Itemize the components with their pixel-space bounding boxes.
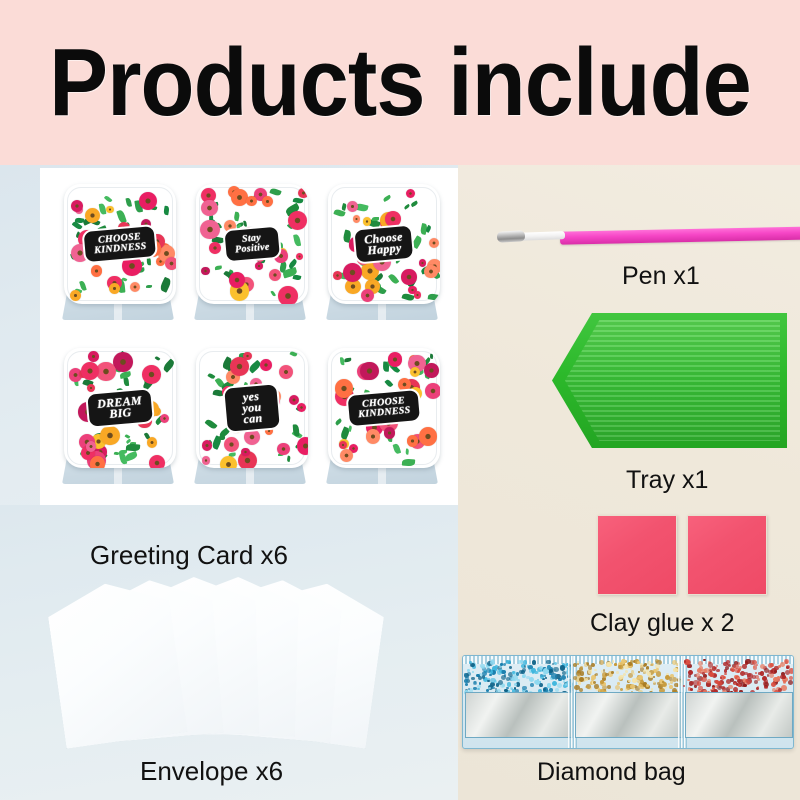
- greeting-card-item: Choose Happy: [320, 182, 448, 330]
- card-slogan: CHOOSE KINDNESS: [345, 388, 422, 428]
- flower-leaf: [161, 358, 175, 373]
- flower-leaf: [385, 378, 394, 387]
- flower-bloom: [340, 449, 353, 462]
- flower-leaf: [103, 194, 112, 203]
- card-face: Stay Positive: [196, 184, 308, 304]
- page-title: Products include: [32, 0, 768, 165]
- flower-leaf: [402, 458, 416, 466]
- greeting-card-item: CHOOSE KINDNESS: [56, 182, 184, 330]
- greeting-card-item: DREAM BIG: [56, 346, 184, 494]
- flower-bloom: [384, 427, 396, 439]
- flower-bloom: [347, 201, 358, 212]
- flower-bloom: [149, 455, 165, 468]
- card-slogan: CHOOSE KINDNESS: [81, 224, 158, 264]
- flower-bloom: [269, 269, 282, 282]
- flower-leaf: [393, 443, 401, 454]
- flower-bloom: [424, 363, 439, 378]
- card-slogan: yes you can: [222, 382, 282, 434]
- flower-leaf: [215, 266, 222, 271]
- flower-bloom: [288, 211, 308, 231]
- flower-leaf: [410, 201, 418, 208]
- pouch-foil-label: [465, 692, 573, 738]
- flower-leaf: [287, 258, 297, 269]
- clay-glue-square-2: [687, 515, 767, 595]
- flower-bloom: [279, 365, 293, 379]
- flower-leaf: [387, 273, 399, 286]
- flower-leaf: [347, 425, 352, 432]
- flower-bloom: [366, 429, 380, 443]
- flower-bloom: [130, 282, 140, 292]
- flower-bloom: [241, 448, 250, 457]
- tray-label: Tray x1: [626, 466, 708, 495]
- flower-bloom: [278, 286, 298, 304]
- product-include-infographic: Products include CHOOSE KINDNESSStay Pos…: [0, 0, 800, 800]
- flower-bloom: [296, 253, 303, 260]
- flower-leaf: [430, 354, 433, 359]
- flower-leaf: [292, 424, 299, 436]
- flower-leaf: [218, 436, 225, 440]
- flower-bloom: [230, 357, 248, 375]
- clay-glue-square-1: [597, 515, 677, 595]
- flower-bloom: [363, 217, 371, 225]
- pouch-foil-label: [575, 692, 683, 738]
- flower-leaf: [289, 351, 297, 358]
- flower-leaf: [160, 277, 173, 293]
- flower-leaf: [372, 217, 379, 221]
- card-face: DREAM BIG: [64, 348, 176, 468]
- flower-bloom: [86, 441, 97, 452]
- flower-leaf: [207, 372, 215, 379]
- flower-bloom: [201, 200, 217, 216]
- flower-leaf: [243, 220, 247, 226]
- pouch-foil-label: [685, 692, 793, 738]
- flower-bloom: [406, 189, 415, 198]
- flower-bloom: [360, 362, 378, 380]
- flower-leaf: [126, 443, 140, 452]
- flower-leaf: [163, 206, 169, 216]
- flower-bloom: [139, 192, 157, 210]
- flower-bloom: [113, 352, 133, 372]
- flower-bloom: [202, 440, 212, 450]
- flower-bloom: [87, 384, 96, 393]
- flower-bloom: [419, 427, 437, 445]
- flower-bloom: [91, 265, 102, 276]
- flower-bloom: [401, 269, 416, 284]
- flower-bloom: [160, 414, 170, 424]
- greeting-card-item: yes you can: [188, 346, 316, 494]
- flower-bloom: [424, 265, 437, 278]
- envelope: [45, 575, 188, 748]
- flower-leaf: [155, 356, 161, 361]
- flower-bloom: [388, 352, 402, 366]
- flower-bloom: [297, 437, 308, 455]
- flower-bloom: [297, 403, 306, 412]
- clay-glue-label: Clay glue x 2: [590, 609, 735, 638]
- envelope-label: Envelope x6: [140, 756, 283, 787]
- card-slogan: Choose Happy: [352, 223, 415, 264]
- flower-bloom: [246, 196, 256, 206]
- flower-bloom: [147, 437, 158, 448]
- flower-leaf: [119, 371, 131, 379]
- card-face: yes you can: [196, 348, 308, 468]
- diamond-tray-grooves: [565, 320, 780, 441]
- card-face: CHOOSE KINDNESS: [64, 184, 176, 304]
- flower-leaf: [404, 204, 411, 210]
- flower-bloom: [106, 206, 113, 213]
- header-banner: Products include: [0, 0, 800, 165]
- flower-leaf: [341, 204, 346, 211]
- flower-leaf: [382, 195, 391, 203]
- flower-bloom: [277, 443, 290, 456]
- rhinestone-fill: [573, 659, 683, 693]
- flower-bloom: [425, 383, 440, 399]
- flower-bloom: [209, 242, 221, 254]
- flower-bloom: [229, 272, 245, 288]
- diamond-pouch-blue: [463, 656, 573, 748]
- flower-leaf: [334, 419, 342, 426]
- diamond-pouch-gold: [573, 656, 683, 748]
- flower-bloom: [255, 262, 262, 269]
- flower-leaf: [125, 198, 132, 208]
- flower-bloom: [201, 267, 210, 276]
- rhinestone-fill: [463, 659, 573, 693]
- envelope-stack: [55, 575, 385, 755]
- flower-bloom: [429, 238, 440, 249]
- flower-bloom: [343, 263, 362, 282]
- flower-bloom: [220, 456, 237, 468]
- flower-leaf: [292, 233, 301, 246]
- drill-pen-tip: [497, 230, 526, 242]
- diamond-pouch-red: [683, 656, 793, 748]
- flower-leaf: [427, 293, 439, 301]
- greeting-card-item: Stay Positive: [188, 182, 316, 330]
- card-slogan: DREAM BIG: [85, 387, 155, 429]
- greeting-card-grid: CHOOSE KINDNESSStay PositiveChoose Happy…: [40, 168, 458, 505]
- flower-bloom: [202, 456, 210, 464]
- flower-bloom: [410, 367, 420, 377]
- flower-bloom: [81, 362, 99, 380]
- flower-bloom: [70, 290, 81, 301]
- flower-bloom: [165, 257, 176, 270]
- rhinestone-fill: [683, 659, 793, 693]
- diamond-bag-label: Diamond bag: [537, 758, 686, 787]
- flower-leaf: [287, 455, 291, 461]
- flower-bloom: [414, 291, 421, 298]
- flower-leaf: [146, 285, 152, 289]
- flower-bloom: [260, 359, 272, 371]
- flower-leaf: [405, 449, 409, 455]
- card-face: CHOOSE KINDNESS: [328, 348, 440, 468]
- flower-bloom: [200, 220, 219, 239]
- flower-bloom: [298, 188, 308, 199]
- flower-bloom: [361, 289, 374, 302]
- flower-bloom: [90, 456, 105, 468]
- flower-leaf: [343, 358, 351, 363]
- card-slogan: Stay Positive: [222, 225, 281, 264]
- flower-leaf: [125, 434, 131, 439]
- flower-bloom: [142, 365, 161, 384]
- flower-leaf: [205, 418, 218, 430]
- flower-bloom: [71, 200, 83, 212]
- flower-leaf: [269, 188, 282, 198]
- greeting-card-label: Greeting Card x6: [90, 540, 288, 571]
- pen-label: Pen x1: [622, 262, 700, 291]
- flower-leaf: [270, 290, 276, 297]
- diamond-bag: [462, 655, 794, 749]
- flower-bloom: [262, 196, 273, 207]
- flower-bloom: [333, 271, 342, 280]
- card-face: Choose Happy: [328, 184, 440, 304]
- flower-bloom: [224, 437, 239, 452]
- flower-bloom: [100, 426, 119, 445]
- flower-leaf: [233, 212, 240, 222]
- greeting-card-item: CHOOSE KINDNESS: [320, 346, 448, 494]
- flower-bloom: [353, 215, 360, 222]
- flower-bloom: [88, 351, 99, 362]
- flower-bloom: [231, 189, 247, 205]
